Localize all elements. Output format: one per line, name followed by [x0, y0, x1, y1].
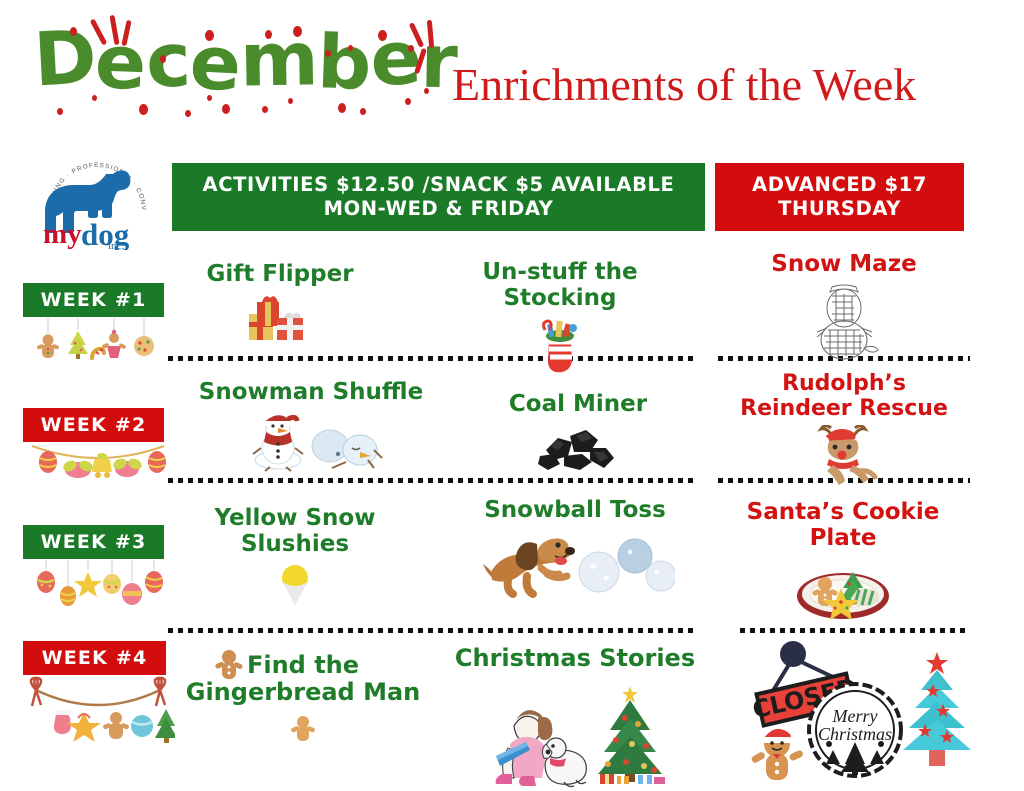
cookie-plate-icon	[712, 556, 974, 622]
garland-week-1	[26, 318, 166, 369]
berry-decoration	[160, 55, 166, 63]
activity-cell-w4-a: Find the Gingerbread Man	[178, 652, 428, 744]
activity-title-line1: Rudolph’s	[718, 372, 970, 397]
star-ornament	[74, 572, 102, 597]
coal-lumps-icon	[460, 422, 696, 472]
garland-week-4	[20, 676, 175, 749]
activity-cell-w2-a: Snowman Shuffle	[180, 380, 442, 472]
berry-decoration	[378, 30, 387, 41]
row-separator-3-left	[168, 628, 698, 633]
activity-title-line2: Slushies	[195, 532, 395, 558]
cookie-ornament	[134, 336, 154, 356]
activity-cell-w3-adv: Santa’s Cookie Plate	[712, 500, 974, 622]
activity-title: Snowball Toss	[450, 498, 700, 524]
activity-title: Gift Flipper	[175, 262, 385, 288]
berry-decoration	[288, 98, 293, 104]
row-separator-2-left	[168, 478, 698, 483]
berry-decoration	[424, 88, 429, 94]
activity-title: Christmas Stories	[450, 645, 700, 672]
bauble-ornament	[103, 574, 121, 594]
activity-cell-w3-b: Snowball Toss	[450, 498, 700, 600]
gift-boxes-icon	[175, 292, 385, 350]
bauble-ornament	[122, 583, 142, 605]
gingerbread-man-ornament	[36, 335, 59, 359]
girl-reading-dog-tree-icon	[450, 678, 700, 788]
title-area: December December Enrichments of the Wee…	[0, 0, 1024, 140]
poinsettia-ornament-2	[112, 457, 144, 477]
berry-decoration	[325, 50, 331, 57]
gingerbread-santa-icon	[750, 729, 804, 780]
stocking-ornament	[54, 710, 71, 734]
activity-title: Coal Miner	[460, 392, 696, 418]
garland-week-2	[26, 440, 171, 493]
dachshund-snowballs-icon	[450, 528, 700, 600]
activity-title: Santa’s Cookie Plate	[712, 500, 974, 552]
activity-cell-w1-a: Gift Flipper	[175, 262, 385, 350]
bauble-ornament	[60, 586, 76, 606]
stocking-icon	[425, 316, 695, 378]
mydog-logo: LOVING · PROFESSIONAL · CONVENIENT · EXC…	[36, 150, 158, 250]
activity-title: Snowman Shuffle	[180, 380, 442, 406]
activity-cell-w4-adv: CLOSED Merry Christmas	[740, 638, 980, 788]
week-badge-2: WEEK #2	[23, 408, 164, 442]
header-advanced-line1: ADVANCED $17	[752, 173, 927, 197]
berry-decoration	[185, 110, 191, 117]
berry-decoration	[57, 108, 63, 115]
page-subtitle: Enrichments of the Week	[452, 58, 916, 111]
berry-decoration	[92, 95, 97, 101]
week-badge-4: WEEK #4	[23, 641, 166, 675]
berry-decoration	[338, 103, 346, 113]
reindeer-icon	[718, 425, 970, 487]
activity-cell-w2-b: Coal Miner	[460, 392, 696, 472]
activity-cell-w4-b: Christmas Stories	[450, 645, 700, 788]
header-activities-line1: ACTIVITIES $12.50 /SNACK $5 AVAILABLE	[203, 173, 675, 197]
bauble-ornament-2	[148, 451, 166, 473]
bauble-ornament	[37, 571, 55, 593]
snow-cone-icon	[195, 562, 395, 608]
header-activities-line2: MON-WED & FRIDAY	[203, 197, 675, 221]
berry-decoration	[207, 95, 212, 101]
snowman-maze-icon	[718, 282, 970, 360]
berry-decoration	[262, 106, 268, 113]
row-separator-3-right	[740, 628, 972, 633]
candy-cane-ornament	[92, 349, 104, 358]
activity-title-line2: Reindeer Rescue	[718, 397, 970, 422]
activity-cell-w1-b: Un-stuff the Stocking	[425, 260, 695, 378]
logo-my-text: my	[43, 218, 82, 250]
garland-week-3	[24, 560, 169, 620]
activity-title-line1: Yellow Snow	[195, 506, 395, 532]
header-advanced-line2: THURSDAY	[752, 197, 927, 221]
berry-decoration	[405, 98, 411, 105]
tree-ornament	[155, 709, 175, 743]
stamp-line1: Merry	[832, 706, 878, 726]
berry-decoration	[70, 27, 77, 36]
header-activities: ACTIVITIES $12.50 /SNACK $5 AVAILABLE MO…	[172, 163, 705, 231]
flyer-page: December December Enrichments of the Wee…	[0, 0, 1024, 791]
closed-sign-icon: CLOSED Merry Christmas	[740, 638, 980, 788]
berry-decoration	[293, 26, 302, 37]
star-ornament	[67, 712, 101, 742]
bauble-ornament	[131, 715, 153, 737]
stamp-line2: Christmas	[818, 724, 892, 744]
berry-decoration	[348, 45, 353, 51]
gingerbread-man-ornament	[103, 712, 130, 739]
teal-tree-icon	[903, 652, 971, 766]
gingerbread-man-icon	[213, 648, 245, 687]
week-badge-3: WEEK #3	[23, 525, 164, 559]
activity-cell-w2-adv: Rudolph’s Reindeer Rescue	[718, 372, 970, 487]
berry-decoration	[265, 30, 272, 39]
bauble-ornament	[39, 451, 57, 473]
berry-decoration	[205, 30, 214, 41]
activity-title-line1: Find the	[247, 651, 359, 679]
berry-decoration	[360, 108, 366, 115]
activity-cell-w1-adv: Snow Maze	[718, 252, 970, 360]
bauble-ornament	[145, 571, 163, 593]
snowman-pair-icon	[180, 410, 442, 472]
poinsettia-ornament	[62, 459, 95, 478]
berry-decoration	[408, 45, 414, 52]
gingerbread-man-icon-small	[178, 714, 428, 744]
berry-decoration	[222, 104, 230, 114]
activity-cell-w3-a: Yellow Snow Slushies	[195, 506, 395, 608]
week-badge-1: WEEK #1	[23, 283, 164, 317]
activity-title: Un-stuff the Stocking	[425, 260, 695, 312]
header-advanced: ADVANCED $17 THURSDAY	[715, 163, 964, 231]
berry-decoration	[139, 104, 148, 115]
activity-title: Snow Maze	[718, 252, 970, 278]
logo-inc-text: inc.	[108, 240, 124, 250]
tree-ornament	[68, 331, 88, 359]
